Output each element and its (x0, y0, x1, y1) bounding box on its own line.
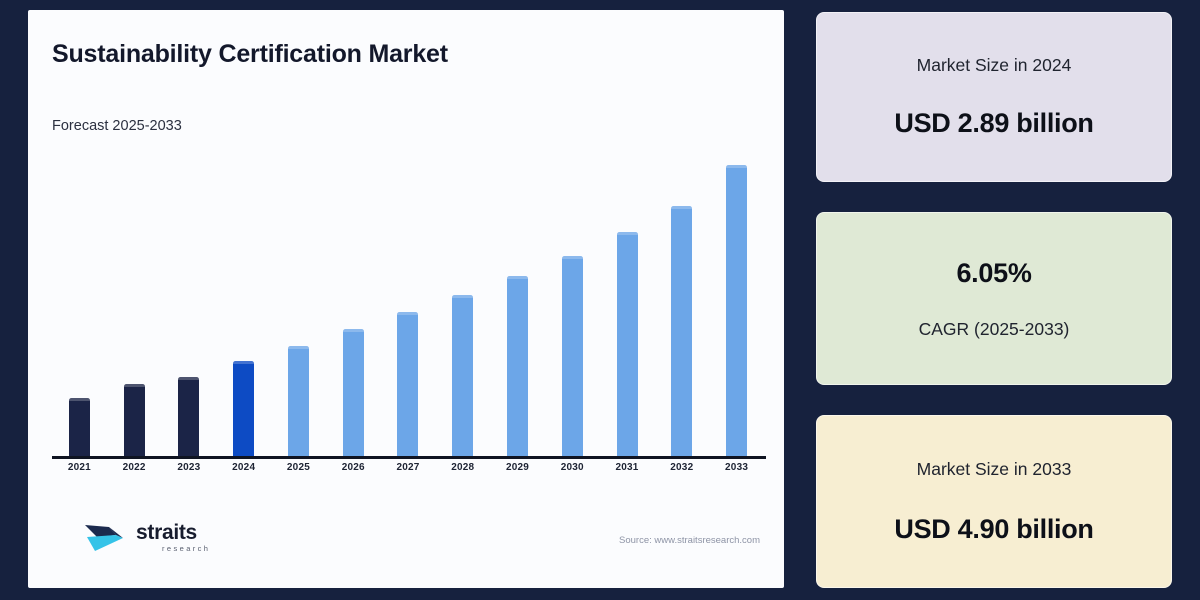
x-axis-tick-labels: 2021202220232024202520262027202820292030… (52, 462, 764, 473)
straits-research-logo: straits research (83, 515, 210, 559)
x-tick-2032: 2032 (654, 462, 709, 473)
logo-subtext: research (162, 545, 210, 553)
bar-slot (271, 150, 326, 456)
bar-2021 (69, 398, 90, 456)
bar-chart-plot-area (52, 150, 764, 456)
bar-slot (107, 150, 162, 456)
card-market-size-2024: Market Size in 2024 USD 2.89 billion (816, 12, 1172, 182)
bar-slot (326, 150, 381, 456)
card-label: Market Size in 2024 (917, 55, 1072, 76)
forecast-subtitle: Forecast 2025-2033 (52, 118, 182, 134)
bar-slot (435, 150, 490, 456)
bar-2030 (562, 256, 583, 456)
bar-2025 (288, 346, 309, 456)
x-tick-2025: 2025 (271, 462, 326, 473)
bar-slot (600, 150, 655, 456)
logo-wordmark: straits (136, 522, 210, 543)
bar-2031 (617, 232, 638, 456)
bar-slot (381, 150, 436, 456)
bar-series (52, 150, 764, 456)
chart-panel: Sustainability Certification Market Fore… (28, 10, 784, 588)
page-title: Sustainability Certification Market (52, 40, 448, 69)
card-label: CAGR (2025-2033) (919, 319, 1070, 340)
bar-2022 (124, 384, 145, 456)
card-value: USD 4.90 billion (894, 514, 1093, 545)
bar-2033 (726, 165, 747, 456)
x-tick-2030: 2030 (545, 462, 600, 473)
card-market-size-2033: Market Size in 2033 USD 4.90 billion (816, 415, 1172, 588)
x-tick-2029: 2029 (490, 462, 545, 473)
bar-2029 (507, 276, 528, 456)
x-tick-2024: 2024 (216, 462, 271, 473)
card-cagr: 6.05% CAGR (2025-2033) (816, 212, 1172, 385)
source-note: Source: www.straitsresearch.com (619, 535, 760, 546)
bar-2032 (671, 206, 692, 456)
x-tick-2027: 2027 (381, 462, 436, 473)
bar-2027 (397, 312, 418, 456)
x-tick-2026: 2026 (326, 462, 381, 473)
card-label: Market Size in 2033 (917, 459, 1072, 480)
bar-slot (654, 150, 709, 456)
x-tick-2021: 2021 (52, 462, 107, 473)
card-value: 6.05% (956, 258, 1031, 289)
bar-2028 (452, 295, 473, 456)
bar-2023 (178, 377, 199, 456)
bar-slot (545, 150, 600, 456)
bar-slot (216, 150, 271, 456)
bar-slot (490, 150, 545, 456)
bar-2024 (233, 361, 254, 456)
x-tick-2033: 2033 (709, 462, 764, 473)
bar-slot (52, 150, 107, 456)
card-value: USD 2.89 billion (894, 108, 1093, 139)
x-tick-2023: 2023 (162, 462, 217, 473)
bar-2026 (343, 329, 364, 456)
stat-cards: Market Size in 2024 USD 2.89 billion 6.0… (816, 12, 1172, 588)
bar-slot (162, 150, 217, 456)
x-tick-2031: 2031 (600, 462, 655, 473)
x-axis-line (52, 456, 766, 459)
bar-slot (709, 150, 764, 456)
x-tick-2022: 2022 (107, 462, 162, 473)
straits-arrow-icon (83, 515, 129, 559)
x-tick-2028: 2028 (435, 462, 490, 473)
